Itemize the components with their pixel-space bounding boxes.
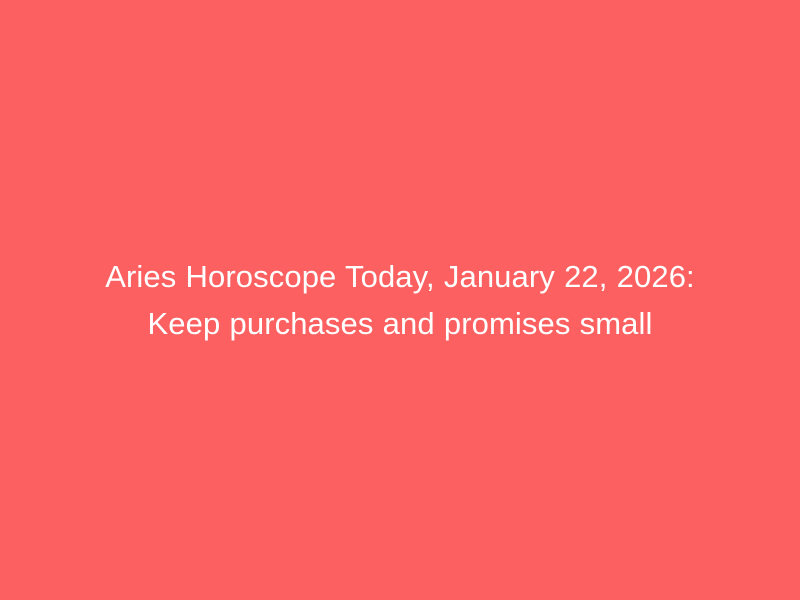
headline-block: Aries Horoscope Today, January 22, 2026:… — [70, 253, 730, 347]
headline-line-1: Aries Horoscope Today, January 22, 2026: — [70, 253, 730, 300]
page-title: Aries Horoscope Today, January 22, 2026:… — [70, 253, 730, 347]
headline-line-2: Keep purchases and promises small — [70, 300, 730, 347]
share-card: Aries Horoscope Today, January 22, 2026:… — [0, 0, 800, 600]
